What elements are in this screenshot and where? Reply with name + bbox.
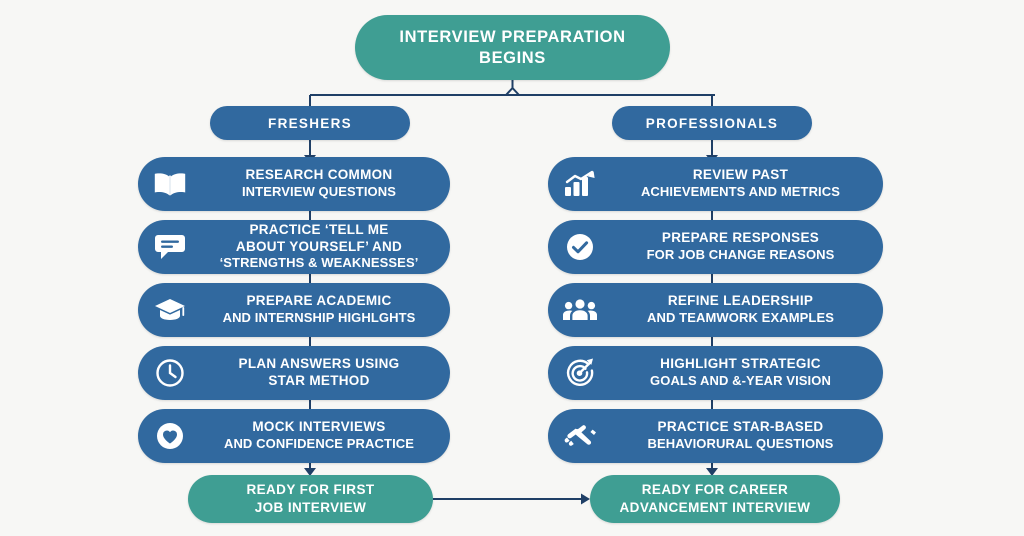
- step-refine-leadership-teamwork[interactable]: REFINE LEADERSHIP AND TEAMWORK EXAMPLES: [548, 283, 883, 337]
- step-line-1: HIGHLIGHT STRATEGIC: [660, 356, 821, 371]
- step-prepare-responses-job-change[interactable]: PREPARE RESPONSES FOR JOB CHANGE REASONS: [548, 220, 883, 274]
- title-line-2: BEGINS: [479, 49, 546, 67]
- step-practice-tell-me-about-yourself[interactable]: PRACTICE ‘TELL ME ABOUT YOURSELF’ AND ‘S…: [138, 220, 450, 274]
- step-highlight-strategic-goals[interactable]: HIGHLIGHT STRATEGIC GOALS AND &-YEAR VIS…: [548, 346, 883, 400]
- step-prepare-academic-highlights[interactable]: PREPARE ACADEMIC AND INTERNSHIP HIGHLGHT…: [138, 283, 450, 337]
- handshake-icon: [562, 418, 598, 454]
- step-line-1: PRACTICE ‘TELL ME: [249, 222, 388, 237]
- step-line-1: PREPARE ACADEMIC: [246, 293, 391, 308]
- step-mock-interviews[interactable]: MOCK INTERVIEWS AND CONFIDENCE PRACTICE: [138, 409, 450, 463]
- step-label: REVIEW PAST ACHIEVEMENTS AND METRICS: [606, 167, 883, 201]
- step-line-1: PLAN ANSWERS USING: [239, 356, 400, 371]
- clock-icon: [152, 355, 188, 391]
- outcome-right-line-2: ADVANCEMENT INTERVIEW: [620, 500, 811, 515]
- step-line-2: ABOUT YOURSELF’ AND: [236, 239, 402, 254]
- step-line-2: FOR JOB CHANGE REASONS: [647, 247, 835, 262]
- heart-circle-icon: [152, 418, 188, 454]
- step-line-1: REFINE LEADERSHIP: [668, 293, 813, 308]
- step-line-1: REVIEW PAST: [693, 167, 788, 182]
- step-label: PLAN ANSWERS USING STAR METHOD: [196, 356, 450, 390]
- step-label: PREPARE RESPONSES FOR JOB CHANGE REASONS: [606, 230, 883, 264]
- bar-chart-growth-icon: [562, 166, 598, 202]
- branch-header-professionals[interactable]: PROFESSIONALS: [612, 106, 812, 140]
- speech-bubble-icon: [152, 229, 188, 265]
- step-label: PRACTICE ‘TELL ME ABOUT YOURSELF’ AND ‘S…: [196, 222, 450, 273]
- branch-right-label: PROFESSIONALS: [646, 116, 778, 131]
- step-line-3: ‘STRENGTHS & WEAKNESSES’: [220, 255, 419, 270]
- step-practice-star-behavioural[interactable]: PRACTICE STAR-BASED BEHAVIORURAL QUESTIO…: [548, 409, 883, 463]
- step-line-2: BEHAVIORURAL QUESTIONS: [648, 436, 834, 451]
- branch-header-freshers[interactable]: FRESHERS: [210, 106, 410, 140]
- step-line-2: GOALS AND &-YEAR VISION: [650, 373, 831, 388]
- step-plan-answers-star-method[interactable]: PLAN ANSWERS USING STAR METHOD: [138, 346, 450, 400]
- step-label: REFINE LEADERSHIP AND TEAMWORK EXAMPLES: [606, 293, 883, 327]
- graduation-cap-icon: [152, 292, 188, 328]
- step-line-1: RESEARCH COMMON: [245, 167, 392, 182]
- outcome-left-line-1: READY FOR FIRST: [246, 482, 374, 497]
- step-label: HIGHLIGHT STRATEGIC GOALS AND &-YEAR VIS…: [606, 356, 883, 390]
- step-line-1: PREPARE RESPONSES: [662, 230, 819, 245]
- step-label: RESEARCH COMMON INTERVIEW QUESTIONS: [196, 167, 450, 201]
- check-circle-icon: [562, 229, 598, 265]
- step-review-past-achievements[interactable]: REVIEW PAST ACHIEVEMENTS AND METRICS: [548, 157, 883, 211]
- target-arrow-icon: [562, 355, 598, 391]
- flowchart-canvas: INTERVIEW PREPARATION BEGINS FRESHERS PR…: [0, 0, 1024, 536]
- step-line-2: AND TEAMWORK EXAMPLES: [647, 310, 834, 325]
- step-label: PRACTICE STAR-BASED BEHAVIORURAL QUESTIO…: [606, 419, 883, 453]
- outcome-left-line-2: JOB INTERVIEW: [255, 500, 366, 515]
- outcome-ready-career-advancement[interactable]: READY FOR CAREER ADVANCEMENT INTERVIEW: [590, 475, 840, 523]
- outcome-ready-first-job-interview[interactable]: READY FOR FIRST JOB INTERVIEW: [188, 475, 433, 523]
- title-line-1: INTERVIEW PREPARATION: [399, 28, 625, 46]
- outcome-right-line-1: READY FOR CAREER: [642, 482, 788, 497]
- step-line-2: AND INTERNSHIP HIGHLGHTS: [223, 310, 416, 325]
- branch-left-label: FRESHERS: [268, 116, 352, 131]
- step-line-2: STAR METHOD: [268, 373, 369, 388]
- step-label: PREPARE ACADEMIC AND INTERNSHIP HIGHLGHT…: [196, 293, 450, 327]
- people-group-icon: [562, 292, 598, 328]
- step-line-1: MOCK INTERVIEWS: [252, 419, 385, 434]
- step-line-2: AND CONFIDENCE PRACTICE: [224, 436, 414, 451]
- page-title: INTERVIEW PREPARATION BEGINS: [355, 15, 670, 80]
- step-line-2: ACHIEVEMENTS AND METRICS: [641, 184, 840, 199]
- step-research-common-questions[interactable]: RESEARCH COMMON INTERVIEW QUESTIONS: [138, 157, 450, 211]
- step-line-1: PRACTICE STAR-BASED: [658, 419, 824, 434]
- step-label: MOCK INTERVIEWS AND CONFIDENCE PRACTICE: [196, 419, 450, 453]
- step-line-2: INTERVIEW QUESTIONS: [242, 184, 396, 199]
- open-book-icon: [152, 166, 188, 202]
